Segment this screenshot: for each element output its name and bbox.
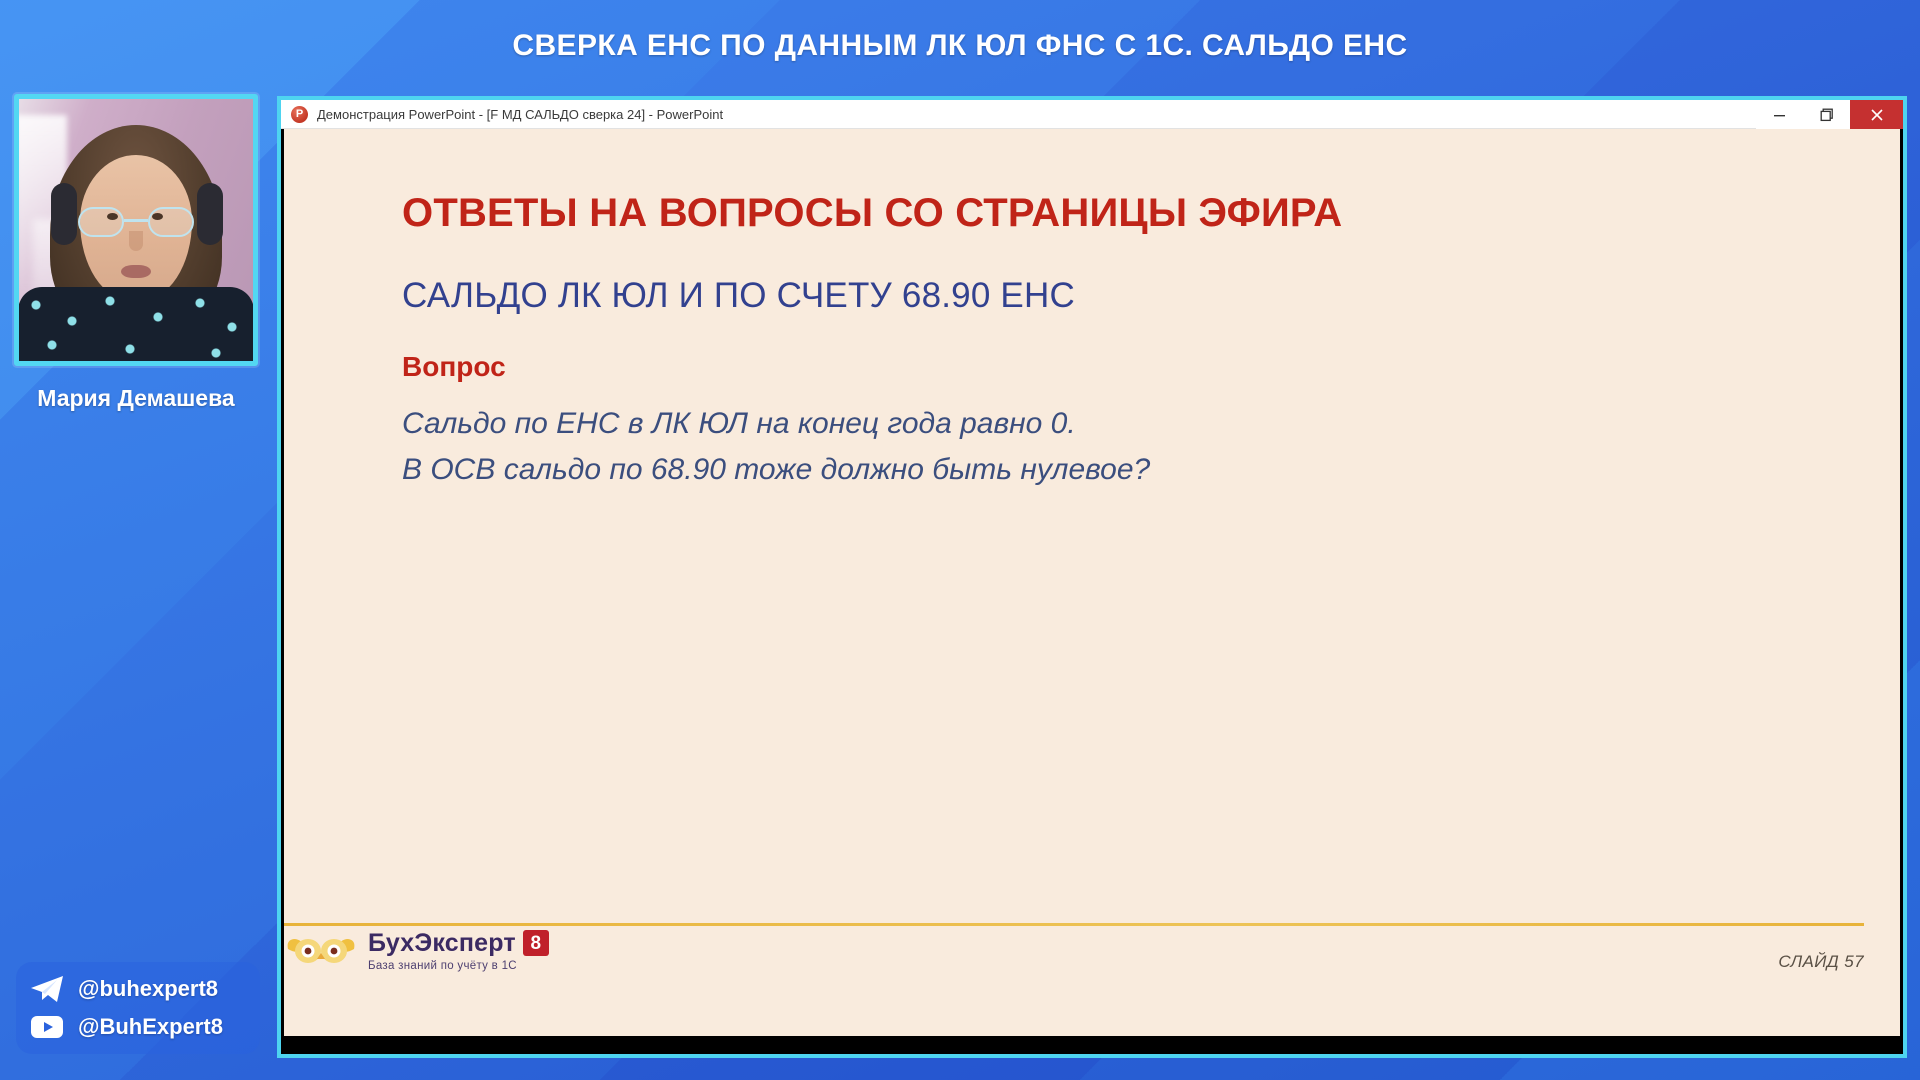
eye-right	[152, 213, 163, 220]
lens-left	[78, 207, 124, 237]
telegram-icon	[30, 974, 64, 1004]
slide-heading: ОТВЕТЫ НА ВОПРОСЫ СО СТРАНИЦЫ ЭФИРА	[402, 191, 1342, 236]
logo-main: БухЭксперт 8	[368, 930, 549, 956]
window-titlebar[interactable]: P Демонстрация PowerPoint - [F МД САЛЬДО…	[281, 100, 1903, 129]
restore-icon	[1820, 108, 1834, 122]
presenter-name: Мария Демашева	[0, 384, 272, 413]
webcam-inner	[19, 99, 253, 361]
logo-subtitle: База знаний по учёту в 1С	[368, 961, 549, 973]
slide-subheading: САЛЬДО ЛК ЮЛ И ПО СЧЕТУ 68.90 ЕНС	[402, 276, 1075, 316]
glasses-bridge	[124, 219, 148, 222]
close-button[interactable]	[1850, 100, 1903, 129]
banner: СВЕРКА ЕНС ПО ДАННЫМ ЛК ЮЛ ФНС С 1С. САЛ…	[0, 0, 1920, 92]
sidebar: Мария Демашева @buhexpert8	[0, 92, 272, 1080]
eye-left	[107, 213, 118, 220]
question-label: Вопрос	[402, 351, 506, 383]
nose	[129, 231, 143, 251]
window-controls	[1756, 100, 1903, 129]
presenter-shirt	[19, 287, 253, 361]
banner-title: СВЕРКА ЕНС ПО ДАННЫМ ЛК ЮЛ ФНС С 1С. САЛ…	[512, 29, 1407, 63]
social-link-youtube[interactable]: @BuhExpert8	[30, 1014, 250, 1040]
powerpoint-icon: P	[291, 106, 308, 123]
youtube-icon	[30, 1014, 64, 1040]
powerpoint-window: P Демонстрация PowerPoint - [F МД САЛЬДО…	[277, 96, 1907, 1058]
minimize-icon	[1773, 108, 1786, 121]
headphone-left	[51, 183, 77, 245]
logo-word: БухЭксперт	[368, 931, 516, 956]
telegram-handle: @buhexpert8	[78, 976, 218, 1002]
slide-canvas[interactable]: ОТВЕТЫ НА ВОПРОСЫ СО СТРАНИЦЫ ЭФИРА САЛЬ…	[284, 129, 1900, 1036]
webcam-video[interactable]	[14, 94, 258, 366]
logo-text: БухЭксперт 8 База знаний по учёту в 1С	[368, 930, 549, 973]
social-links: @buhexpert8 @BuhExpert8	[16, 962, 260, 1054]
minimize-button[interactable]	[1756, 100, 1803, 129]
footer-divider	[284, 923, 1864, 926]
logo-badge: 8	[523, 930, 549, 956]
slide-bottom-strip	[284, 1036, 1900, 1054]
lens-right	[148, 207, 194, 237]
question-text: Сальдо по ЕНС в ЛК ЮЛ на конец года равн…	[402, 401, 1150, 492]
social-link-telegram[interactable]: @buhexpert8	[30, 974, 250, 1004]
headphone-right	[197, 183, 223, 245]
mouth	[121, 265, 151, 278]
slide-number: СЛАЙД 57	[1778, 952, 1864, 972]
close-icon	[1869, 107, 1885, 123]
screen-root: СВЕРКА ЕНС ПО ДАННЫМ ЛК ЮЛ ФНС С 1С. САЛ…	[0, 0, 1920, 1080]
owl-icon	[284, 931, 358, 971]
buhexpert-logo: БухЭксперт 8 База знаний по учёту в 1С	[284, 930, 549, 973]
youtube-handle: @BuhExpert8	[78, 1014, 223, 1040]
slide-footer: БухЭксперт 8 База знаний по учёту в 1С С…	[284, 930, 1864, 996]
window-title: Демонстрация PowerPoint - [F МД САЛЬДО с…	[317, 107, 723, 122]
slide-viewport: ОТВЕТЫ НА ВОПРОСЫ СО СТРАНИЦЫ ЭФИРА САЛЬ…	[281, 129, 1903, 1054]
restore-button[interactable]	[1803, 100, 1850, 129]
